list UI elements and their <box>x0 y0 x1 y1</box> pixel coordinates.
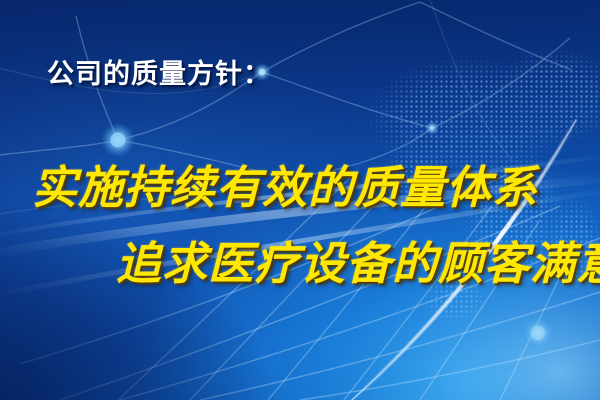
policy-statement: 实施持续有效的质量体系 追求医疗设备的顾客满意 <box>0 162 600 290</box>
policy-line-1: 实施持续有效的质量体系 <box>32 162 600 214</box>
slide-canvas: 公司的质量方针： 实施持续有效的质量体系 追求医疗设备的顾客满意 <box>0 0 600 400</box>
network-node-right <box>522 317 554 349</box>
network-node-topright <box>425 121 439 135</box>
network-node <box>101 123 135 157</box>
policy-line-2: 追求医疗设备的顾客满意 <box>116 238 600 290</box>
page-title: 公司的质量方针： <box>47 52 271 91</box>
